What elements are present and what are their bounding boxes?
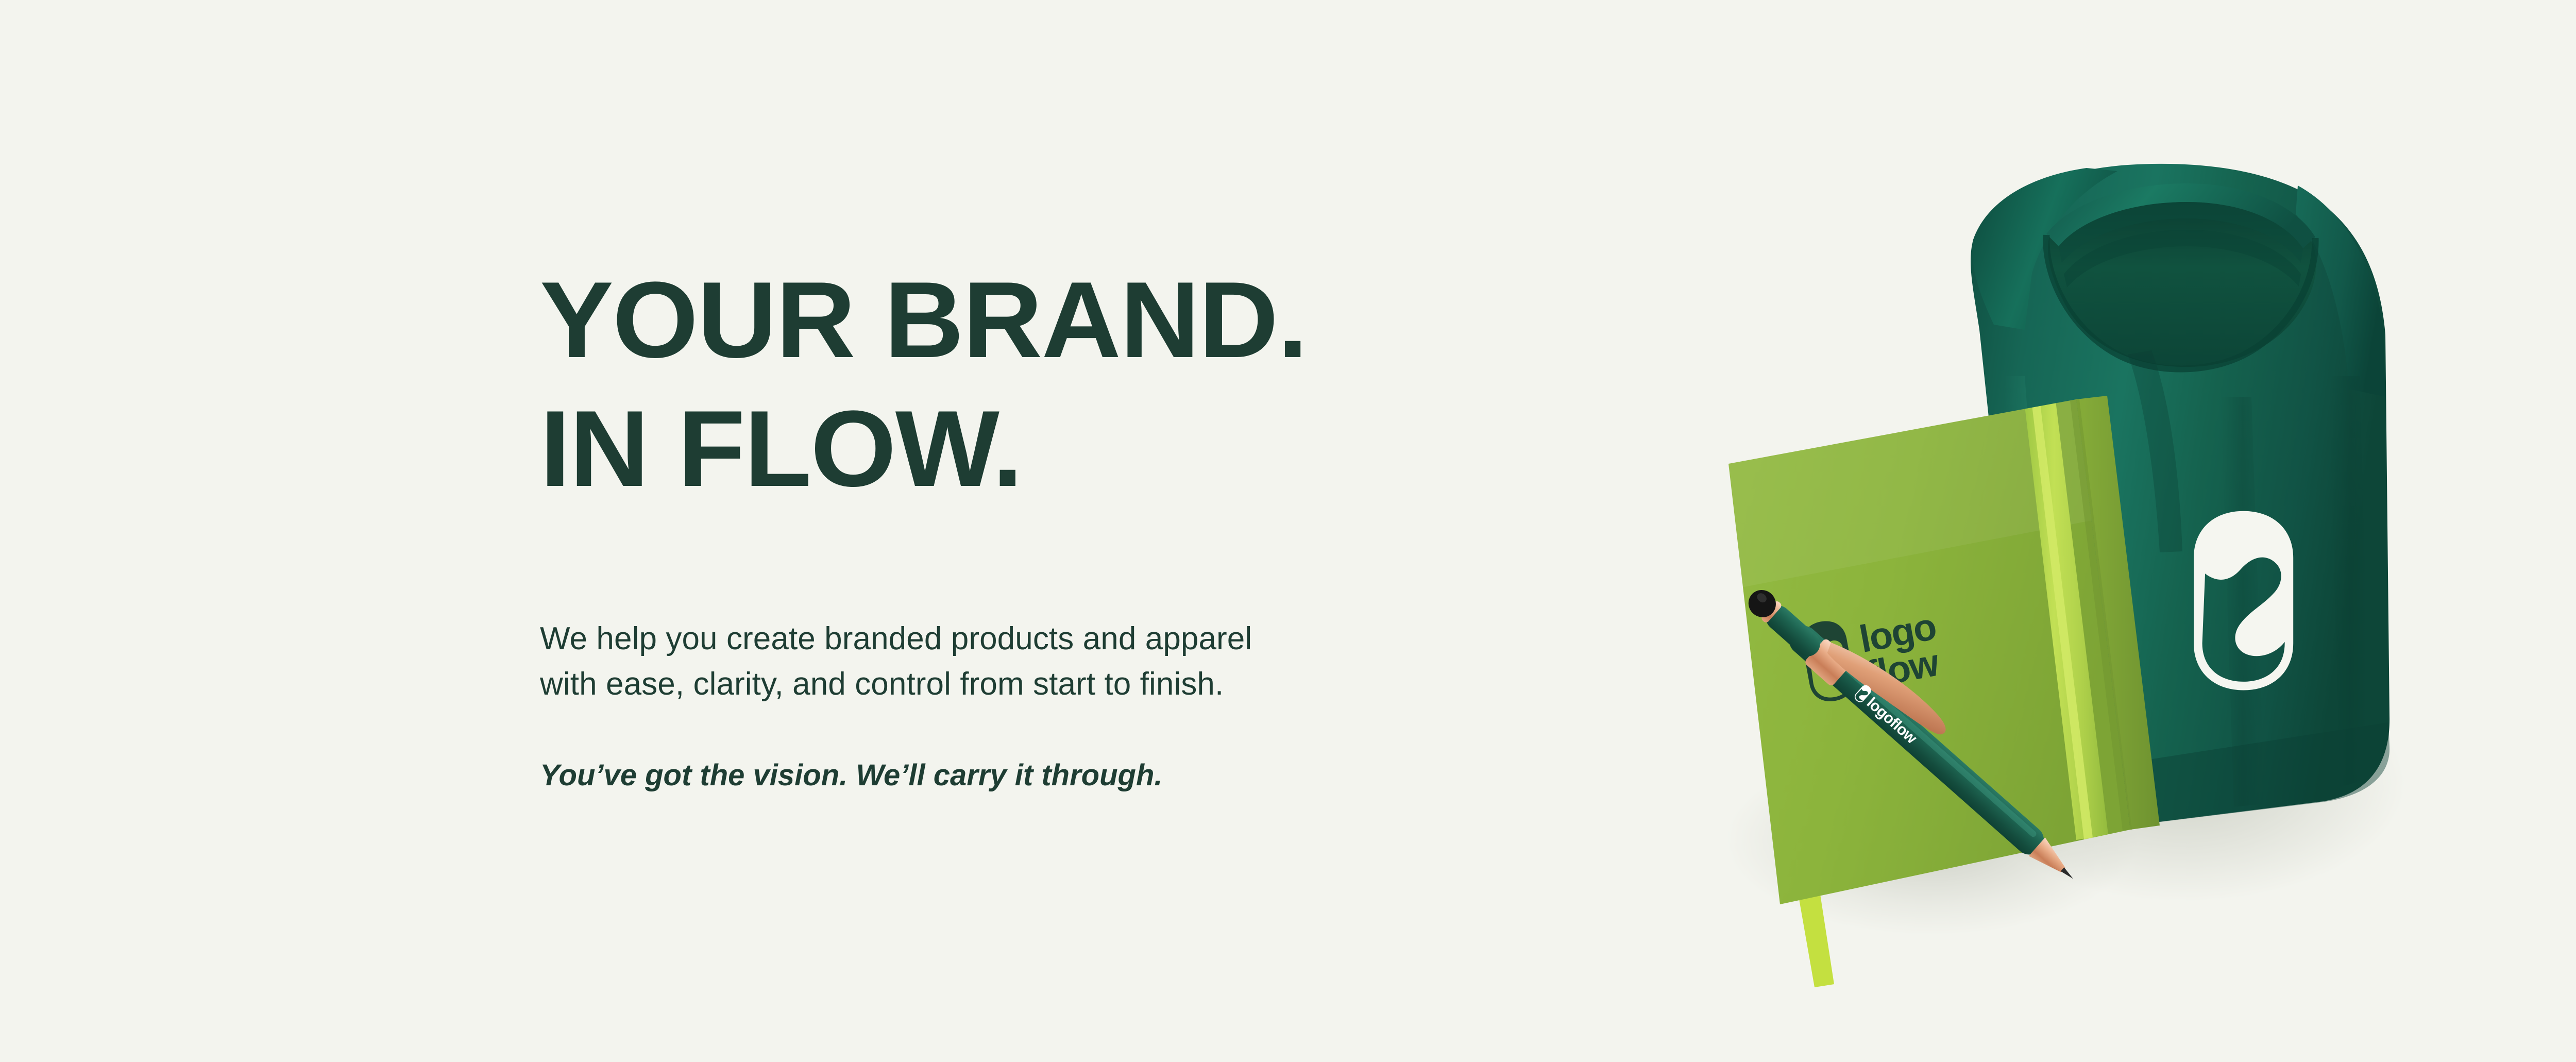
product-mockup-svg: logo flow <box>1664 108 2437 1005</box>
subcopy-line-1: We help you create branded products and … <box>540 616 1519 662</box>
hero-subcopy: We help you create branded products and … <box>540 616 1519 707</box>
page-title: YOUR BRAND. IN FLOW. <box>540 268 1591 500</box>
hero-banner: YOUR BRAND. IN FLOW. We help you create … <box>0 0 2576 1062</box>
headline-line-2: IN FLOW. <box>540 397 1591 501</box>
product-mockup-photo: logo flow <box>1664 108 2437 1005</box>
hero-copy-block: YOUR BRAND. IN FLOW. We help you create … <box>540 268 1570 500</box>
subcopy-line-2: with ease, clarity, and control from sta… <box>540 662 1519 707</box>
headline-line-1: YOUR BRAND. <box>540 268 1591 372</box>
hero-tagline: You’ve got the vision. We’ll carry it th… <box>540 757 1162 794</box>
